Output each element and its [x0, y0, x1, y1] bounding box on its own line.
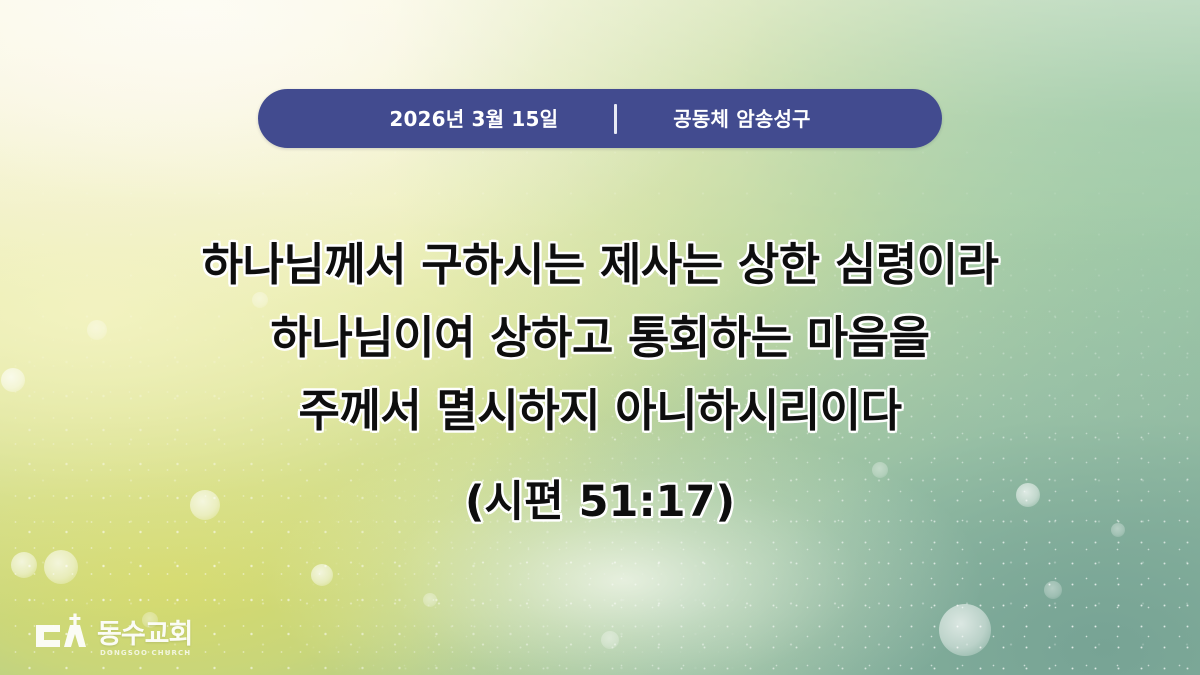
church-name-label: 동수교회 [97, 621, 192, 648]
presentation-slide: 2026년 3월 15일 공동체 암송성구 하나님께서 구하시는 제사는 상한 … [0, 0, 1200, 675]
verse-reference: (시편 51:17) [0, 474, 1200, 530]
church-name-romanized-label: DONGSOO CHURCH [100, 650, 191, 657]
badge-category-label: 공동체 암송성구 [673, 109, 810, 129]
verse-line-3: 주께서 멸시하지 아니하시리이다 [0, 374, 1200, 447]
slide-header-badge: 2026년 3월 15일 공동체 암송성구 [258, 89, 942, 148]
badge-date-label: 2026년 3월 15일 [389, 109, 558, 129]
church-logo-text: 동수교회 DONGSOO CHURCH [97, 621, 192, 657]
badge-divider [614, 104, 617, 134]
verse-line-1: 하나님께서 구하시는 제사는 상한 심령이라 [0, 228, 1200, 301]
church-cross-mark-icon [34, 613, 92, 657]
verse-line-2: 하나님이여 상하고 통회하는 마음을 [0, 301, 1200, 374]
church-logo: 동수교회 DONGSOO CHURCH [34, 613, 192, 657]
verse-block: 하나님께서 구하시는 제사는 상한 심령이라 하나님이여 상하고 통회하는 마음… [0, 228, 1200, 530]
